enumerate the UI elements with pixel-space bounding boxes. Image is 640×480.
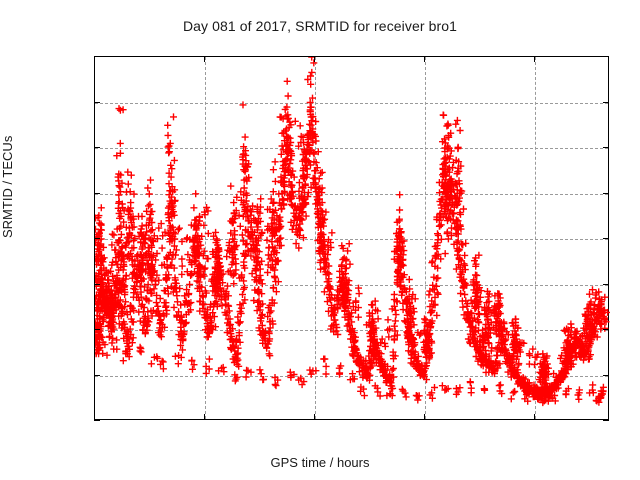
y-axis-title: SRMTID / TECUs: [0, 136, 15, 238]
gridline-horizontal: [95, 103, 608, 104]
chart-title: Day 081 of 2017, SRMTID for receiver bro…: [0, 18, 640, 34]
y-tick-mark: [94, 420, 100, 421]
gridline-vertical: [425, 57, 426, 419]
gridline-vertical: [315, 57, 316, 419]
y-tick-mark-right: [603, 420, 609, 421]
gridline-vertical: [205, 57, 206, 419]
gridline-horizontal: [95, 194, 608, 195]
x-axis-title: GPS time / hours: [0, 455, 640, 470]
gridline-horizontal: [95, 376, 608, 377]
gridline-horizontal: [95, 285, 608, 286]
chart-page: Day 081 of 2017, SRMTID for receiver bro…: [0, 0, 640, 480]
gridline-horizontal: [95, 148, 608, 149]
gridline-horizontal: [95, 239, 608, 240]
scatter-points: [95, 57, 610, 406]
plot-area: [94, 56, 609, 420]
gridline-horizontal: [95, 330, 608, 331]
gridline-vertical: [535, 57, 536, 419]
